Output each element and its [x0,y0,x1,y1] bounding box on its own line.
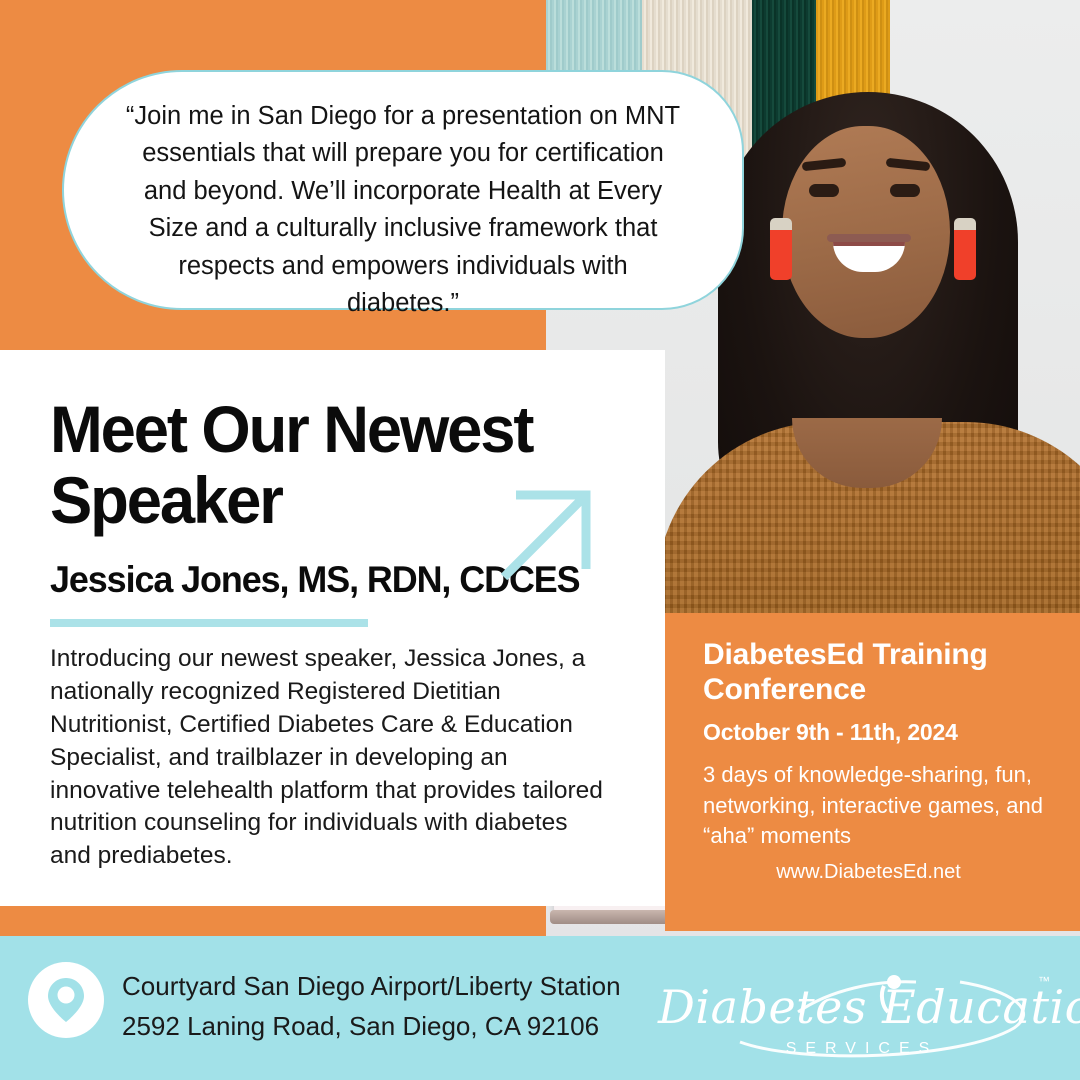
arrow-up-right-icon [498,483,598,583]
conference-title: DiabetesEd Training Conference [703,637,1054,707]
teal-divider [50,619,368,627]
speaker-person [696,92,1080,652]
venue-street: 2592 Laning Road, San Diego, CA 92106 [122,1006,621,1046]
location-pin-icon [44,975,88,1025]
quote-text: “Join me in San Diego for a presentation… [64,72,742,323]
headline-line-1: Meet Our Newest [50,392,532,466]
location-pin-badge [28,962,104,1038]
speaker-bio: Introducing our newest speaker, Jessica … [50,643,610,873]
conference-dates: October 9th - 11th, 2024 [703,719,1054,746]
conference-info-panel: DiabetesEd Training Conference October 9… [665,613,1080,931]
venue-address: Courtyard San Diego Airport/Liberty Stat… [122,966,621,1047]
eye-left [809,184,839,197]
conference-description: 3 days of knowledge-sharing, fun, networ… [703,760,1054,851]
logo-wordmark: Diabetes Education [658,984,1058,1030]
brand-logo: Diabetes Education SERVICES ™ [658,950,1058,1070]
face [782,126,950,338]
venue-name: Courtyard San Diego Airport/Liberty Stat… [122,966,621,1006]
promo-poster:  DiabetesEd Training Conference October… [0,0,1080,1080]
trademark-symbol: ™ [1038,974,1050,988]
upper-lip [827,234,911,242]
speech-bubble: “Join me in San Diego for a presentation… [62,70,744,310]
conference-website-link[interactable]: www.DiabetesEd.net [703,861,1054,884]
earring-right [954,218,976,280]
speaker-card: Meet Our Newest Speaker Jessica Jones, M… [0,350,665,906]
logo-tagline: SERVICES [658,1040,1058,1058]
footer-bar: Courtyard San Diego Airport/Liberty Stat… [0,936,1080,1080]
earring-left [770,218,792,280]
eye-right [890,184,920,197]
